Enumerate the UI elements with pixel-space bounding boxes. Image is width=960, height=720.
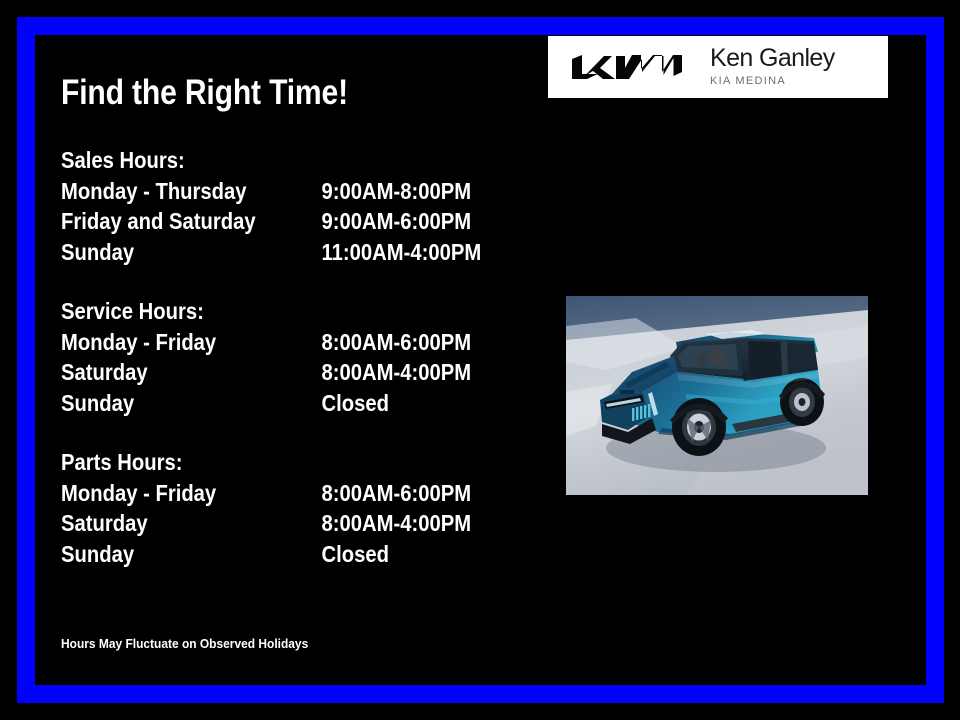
hours-time: 8:00AM-6:00PM [321, 478, 471, 509]
hours-section-sales: Sales Hours: Monday - Thursday 9:00AM-8:… [61, 145, 531, 267]
hours-days: Monday - Friday [61, 478, 216, 509]
section-heading: Sales Hours: [61, 145, 475, 176]
dealer-logo-panel: Ken Ganley KIA MEDINA [548, 36, 888, 98]
slide-canvas: Find the Right Time! Ken Ganley KIA MEDI… [0, 0, 960, 720]
hours-row: Sunday Closed [61, 388, 475, 419]
dealer-subtitle: KIA MEDINA [710, 74, 835, 88]
hours-time: Closed [321, 539, 388, 570]
hours-days: Sunday [61, 388, 134, 419]
kia-logo-icon [566, 52, 688, 82]
vehicle-illustration [566, 296, 868, 495]
hours-days: Saturday [61, 357, 148, 388]
hours-row: Sunday 11:00AM-4:00PM [61, 237, 475, 268]
hours-days: Saturday [61, 508, 148, 539]
hours-time: 11:00AM-4:00PM [321, 237, 481, 268]
hours-time: 8:00AM-4:00PM [321, 508, 471, 539]
page-title: Find the Right Time! [61, 74, 348, 113]
hours-row: Saturday 8:00AM-4:00PM [61, 508, 475, 539]
hours-time: 9:00AM-8:00PM [321, 176, 471, 207]
hours-row: Friday and Saturday 9:00AM-6:00PM [61, 206, 475, 237]
hours-row: Monday - Friday 8:00AM-6:00PM [61, 478, 475, 509]
hours-time: 9:00AM-6:00PM [321, 206, 471, 237]
section-heading: Parts Hours: [61, 447, 475, 478]
hours-list: Sales Hours: Monday - Thursday 9:00AM-8:… [61, 145, 531, 569]
section-heading: Service Hours: [61, 296, 475, 327]
hours-days: Sunday [61, 539, 134, 570]
dealer-logo-text: Ken Ganley KIA MEDINA [710, 46, 835, 88]
hours-days: Monday - Thursday [61, 176, 247, 207]
hours-days: Monday - Friday [61, 327, 216, 358]
hours-time: 8:00AM-6:00PM [321, 327, 471, 358]
hours-time: 8:00AM-4:00PM [321, 357, 471, 388]
hours-days: Friday and Saturday [61, 206, 256, 237]
hours-row: Sunday Closed [61, 539, 475, 570]
hours-time: Closed [321, 388, 388, 419]
kia-ev9-suv-photo [566, 296, 868, 495]
hours-row: Monday - Thursday 9:00AM-8:00PM [61, 176, 475, 207]
hours-section-parts: Parts Hours: Monday - Friday 8:00AM-6:00… [61, 447, 531, 569]
hours-row: Saturday 8:00AM-4:00PM [61, 357, 475, 388]
dealer-name: Ken Ganley [710, 46, 835, 72]
hours-days: Sunday [61, 237, 134, 268]
hours-row: Monday - Friday 8:00AM-6:00PM [61, 327, 475, 358]
holiday-disclaimer: Hours May Fluctuate on Observed Holidays [61, 636, 308, 651]
hours-section-service: Service Hours: Monday - Friday 8:00AM-6:… [61, 296, 531, 418]
